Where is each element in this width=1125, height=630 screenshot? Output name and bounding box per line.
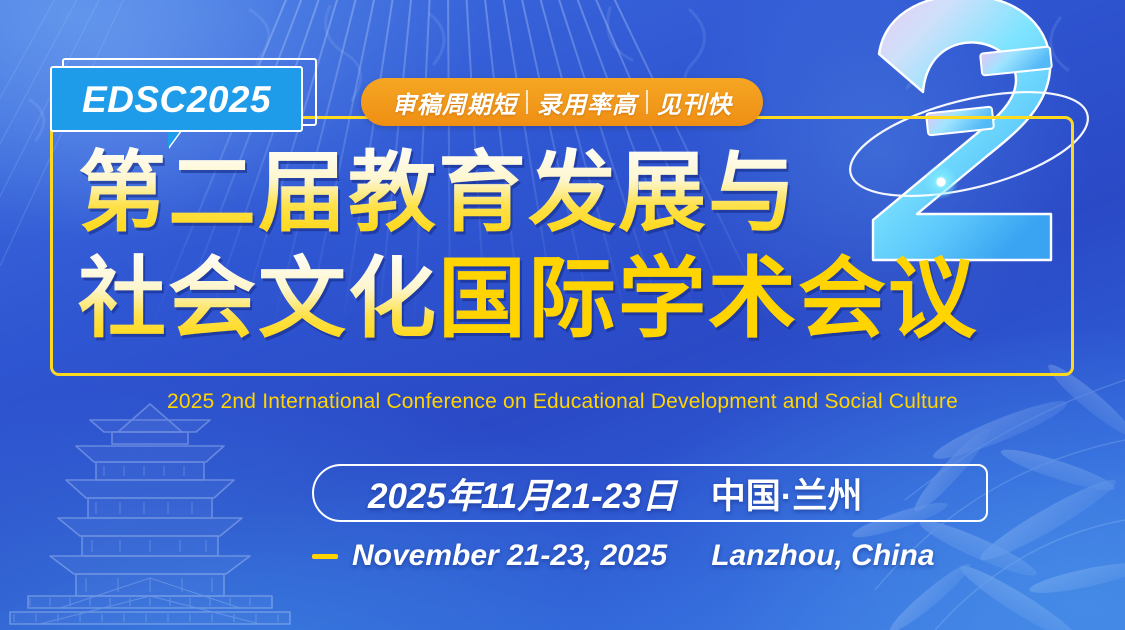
title-line-two-part-two: 国际学术会议 — [438, 246, 978, 352]
highlights-badge: 审稿周期短 录用率高 见刊快 — [361, 78, 763, 126]
main-title: 第二届教育发展与 社会文化 国际学术会议 — [78, 140, 1058, 352]
highlight-item-2: 录用率高 — [528, 85, 646, 120]
dash-marker — [312, 554, 338, 559]
highlight-item-1: 审稿周期短 — [383, 85, 526, 120]
title-line-one: 第二届教育发展与 — [78, 140, 1058, 246]
conference-code-label: EDSC2025 — [82, 81, 271, 118]
date-venue-english: November 21-23, 2025 Lanzhou, China — [312, 536, 935, 576]
conference-banner: EDSC2025 审稿周期短 录用率高 见刊快 第二届教育发展与 社会文化 国际… — [0, 0, 1125, 630]
conference-code-tag: EDSC2025 — [50, 66, 303, 132]
english-subtitle: 2025 2nd International Conference on Edu… — [0, 390, 1125, 414]
city-english: Lanzhou, China — [711, 539, 934, 573]
city-chinese: 中国·兰州 — [711, 468, 863, 519]
date-english: November 21-23, 2025 — [352, 539, 667, 573]
date-chinese: 2025年11月21-23日 — [368, 468, 677, 519]
date-venue-box: 2025年11月21-23日 中国·兰州 — [312, 464, 988, 522]
title-line-two: 社会文化 国际学术会议 — [78, 246, 1058, 352]
highlight-item-3: 见刊快 — [648, 85, 741, 120]
title-line-two-part-one: 社会文化 — [78, 246, 438, 352]
